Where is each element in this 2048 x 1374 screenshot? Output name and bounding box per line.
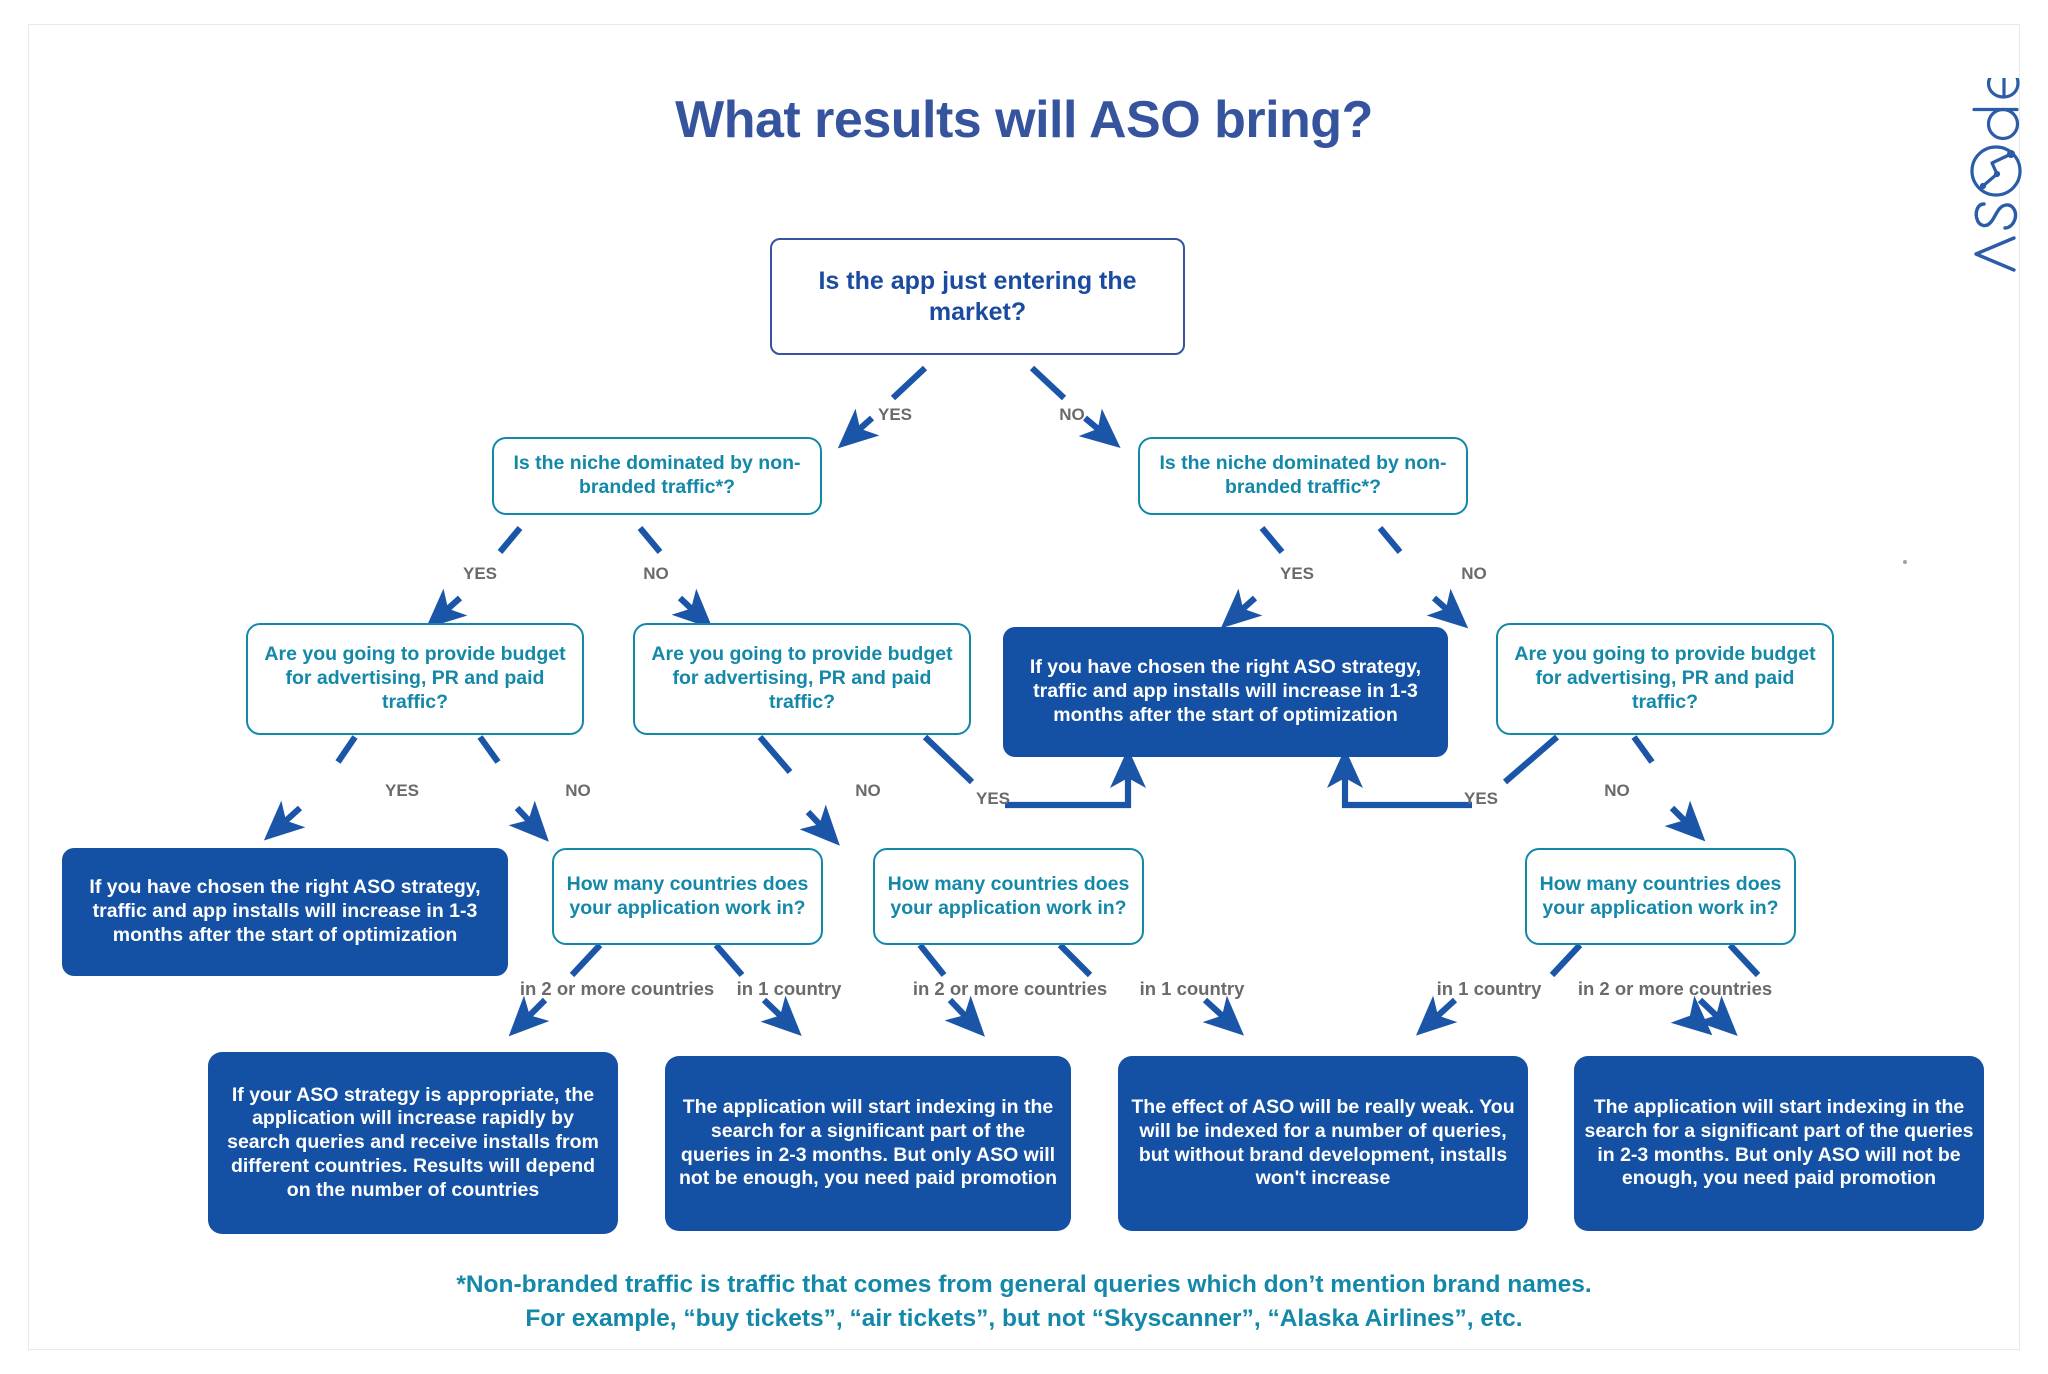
- edge-label-niche-right-no: NO: [1461, 564, 1487, 584]
- edge-label-niche-right-yes: YES: [1280, 564, 1314, 584]
- edge-label-countries1-one: in 1 country: [737, 978, 842, 1000]
- node-countries-2[interactable]: How many countries does your application…: [873, 848, 1144, 945]
- edge-label-budget2-no: NO: [855, 781, 881, 801]
- edge-label-countries2-one: in 1 country: [1140, 978, 1245, 1000]
- edge-label-budget3-yes: YES: [1464, 789, 1498, 809]
- node-niche-right[interactable]: Is the niche dominated by non-branded tr…: [1138, 437, 1468, 515]
- edge-label-budget1-yes: YES: [385, 781, 419, 801]
- node-niche-left-label: Is the niche dominated by non-branded tr…: [504, 452, 810, 500]
- flowchart-page: What results will ASO bring?: [0, 0, 2048, 1374]
- node-result-4-label: The application will start indexing in t…: [1584, 1096, 1974, 1191]
- edge-label-root-no: NO: [1059, 405, 1085, 425]
- edge-label-countries2-many: in 2 or more countries: [913, 978, 1107, 1000]
- node-budget-3[interactable]: Are you going to provide budget for adve…: [1496, 623, 1834, 735]
- node-result-2-label: The application will start indexing in t…: [675, 1096, 1061, 1191]
- page-title: What results will ASO bring?: [0, 90, 2048, 150]
- node-budget-1-label: Are you going to provide budget for adve…: [258, 643, 572, 714]
- edge-label-countries1-many: in 2 or more countries: [520, 978, 714, 1000]
- node-root-question[interactable]: Is the app just entering the market?: [770, 238, 1185, 355]
- node-countries-2-label: How many countries does your application…: [885, 873, 1132, 921]
- stray-dot: [1903, 560, 1907, 564]
- node-outcome-left[interactable]: If you have chosen the right ASO strateg…: [62, 848, 508, 976]
- node-result-1-label: If your ASO strategy is appropriate, the…: [218, 1084, 608, 1203]
- node-countries-1-label: How many countries does your application…: [564, 873, 811, 921]
- edge-label-root-yes: YES: [878, 405, 912, 425]
- node-countries-1[interactable]: How many countries does your application…: [552, 848, 823, 945]
- node-outcome-center-label: If you have chosen the right ASO strateg…: [1013, 656, 1438, 727]
- node-budget-2[interactable]: Are you going to provide budget for adve…: [633, 623, 971, 735]
- node-countries-3-label: How many countries does your application…: [1537, 873, 1784, 921]
- node-niche-left[interactable]: Is the niche dominated by non-branded tr…: [492, 437, 822, 515]
- edge-label-budget1-no: NO: [565, 781, 591, 801]
- edge-label-countries3-many: in 2 or more countries: [1578, 978, 1772, 1000]
- edge-label-budget2-yes: YES: [976, 789, 1010, 809]
- node-budget-3-label: Are you going to provide budget for adve…: [1508, 643, 1822, 714]
- node-budget-1[interactable]: Are you going to provide budget for adve…: [246, 623, 584, 735]
- asodesk-logo[interactable]: [1968, 78, 2034, 408]
- footnote-line-1: *Non-branded traffic is traffic that com…: [0, 1268, 2048, 1302]
- footnote-line-2: For example, “buy tickets”, “air tickets…: [0, 1302, 2048, 1336]
- asodesk-logo-icon: [1968, 78, 2034, 408]
- node-result-1[interactable]: If your ASO strategy is appropriate, the…: [208, 1052, 618, 1234]
- node-result-4[interactable]: The application will start indexing in t…: [1574, 1056, 1984, 1231]
- node-root-label: Is the app just entering the market?: [782, 266, 1173, 327]
- node-result-3-label: The effect of ASO will be really weak. Y…: [1128, 1096, 1518, 1191]
- edge-label-niche-left-yes: YES: [463, 564, 497, 584]
- node-result-3[interactable]: The effect of ASO will be really weak. Y…: [1118, 1056, 1528, 1231]
- footnote: *Non-branded traffic is traffic that com…: [0, 1268, 2048, 1336]
- node-countries-3[interactable]: How many countries does your application…: [1525, 848, 1796, 945]
- node-outcome-center[interactable]: If you have chosen the right ASO strateg…: [1003, 627, 1448, 757]
- node-budget-2-label: Are you going to provide budget for adve…: [645, 643, 959, 714]
- node-niche-right-label: Is the niche dominated by non-branded tr…: [1150, 452, 1456, 500]
- node-outcome-left-label: If you have chosen the right ASO strateg…: [72, 876, 498, 947]
- edge-label-budget3-no: NO: [1604, 781, 1630, 801]
- edge-label-countries3-one: in 1 country: [1437, 978, 1542, 1000]
- edge-label-niche-left-no: NO: [643, 564, 669, 584]
- node-result-2[interactable]: The application will start indexing in t…: [665, 1056, 1071, 1231]
